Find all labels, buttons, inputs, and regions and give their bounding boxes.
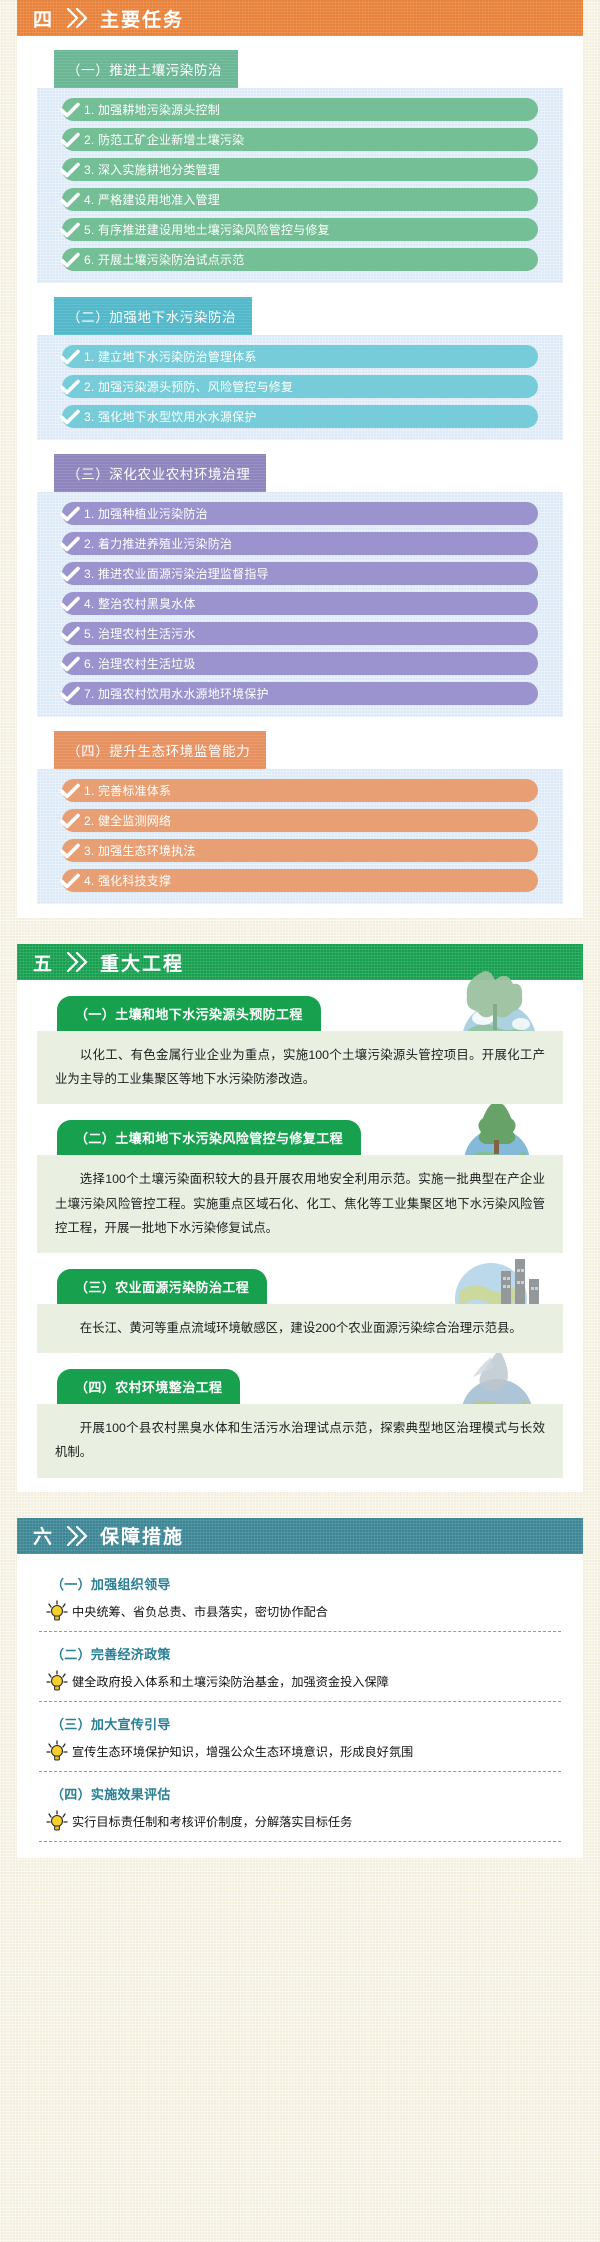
check-icon	[57, 345, 83, 368]
task-pill-label: 7. 加强农村饮用水水源地环境保护	[83, 685, 269, 702]
check-icon	[57, 158, 83, 181]
task-pill[interactable]: 1. 加强耕地污染源头控制	[62, 98, 538, 121]
safeguard-line: 宣传生态环境保护知识，增强公众生态环境意识，形成良好氛围	[39, 1737, 561, 1771]
project-block: （一）土壤和地下水污染源头预防工程 以化工、有色金属行业企业为重点，实施100个…	[37, 996, 563, 1104]
task-group-header: （二）加强地下水污染防治	[54, 297, 252, 335]
double-chevron-icon	[65, 1524, 91, 1548]
double-chevron-icon	[65, 6, 91, 30]
project-body: 选择100个土壤污染面积较大的县开展农用地安全利用示范。实施一批典型在产企业土壤…	[37, 1155, 563, 1253]
check-icon	[57, 562, 83, 585]
task-pill-label: 2. 防范工矿企业新增土壤污染	[83, 131, 244, 148]
task-pill-label: 4. 严格建设用地准入管理	[83, 191, 220, 208]
task-pill[interactable]: 3. 强化地下水型饮用水水源保护	[62, 405, 538, 428]
check-icon	[57, 248, 83, 271]
task-pill[interactable]: 2. 加强污染源头预防、风险管控与修复	[62, 375, 538, 398]
task-pill-label: 1. 加强种植业污染防治	[83, 505, 208, 522]
section-card-main-tasks: 四 主要任务 （一）推进土壤污染防治 1. 加强耕地污染源头控制 2. 防范工矿…	[17, 0, 583, 918]
section-title: 重大工程	[100, 949, 184, 976]
task-pill-label: 1. 加强耕地污染源头控制	[83, 101, 220, 118]
divider	[39, 1701, 561, 1702]
task-pill[interactable]: 3. 推进农业面源污染治理监督指导	[62, 562, 538, 585]
safeguard-text: 中央统筹、省负总责、市县落实，密切协作配合	[72, 1602, 328, 1620]
task-pill[interactable]: 7. 加强农村饮用水水源地环境保护	[62, 682, 538, 705]
task-pill-label: 5. 治理农村生活污水	[83, 625, 196, 642]
project-body: 在长江、黄河等重点流域环境敏感区，建设200个农业面源污染综合治理示范县。	[37, 1304, 563, 1353]
divider	[39, 1841, 561, 1842]
task-pill-label: 1. 完善标准体系	[83, 782, 171, 799]
divider	[39, 1771, 561, 1772]
project-header: （二）土壤和地下水污染风险管控与修复工程	[57, 1120, 361, 1155]
section-card-safeguards: 六 保障措施 （一）加强组织领导	[17, 1518, 583, 1858]
task-pill[interactable]: 2. 防范工矿企业新增土壤污染	[62, 128, 538, 151]
task-pill-label: 4. 整治农村黑臭水体	[83, 595, 196, 612]
section-number: 六	[17, 1522, 53, 1549]
task-group-header: （一）推进土壤污染防治	[54, 50, 238, 88]
section-banner-main-tasks: 四 主要任务	[17, 0, 583, 36]
check-icon	[57, 188, 83, 211]
safeguard-title: （四）实施效果评估	[39, 1778, 561, 1807]
task-pill-label: 2. 健全监测网络	[83, 812, 171, 829]
section-number: 五	[17, 949, 53, 976]
task-pill-label: 3. 深入实施耕地分类管理	[83, 161, 220, 178]
lightbulb-icon	[45, 1810, 69, 1832]
task-pill[interactable]: 1. 完善标准体系	[62, 779, 538, 802]
project-block: （二）土壤和地下水污染风险管控与修复工程 选择100个土壤污染面积较大的县开展农…	[37, 1120, 563, 1253]
task-pill[interactable]: 5. 治理农村生活污水	[62, 622, 538, 645]
task-group-header: （四）提升生态环境监管能力	[54, 731, 266, 769]
project-body: 以化工、有色金属行业企业为重点，实施100个土壤污染源头管控项目。开展化工产业为…	[37, 1031, 563, 1104]
task-group-body: 1. 加强耕地污染源头控制 2. 防范工矿企业新增土壤污染 3. 深入实施耕地分…	[37, 88, 563, 283]
task-pill[interactable]: 3. 加强生态环境执法	[62, 839, 538, 862]
infographic-page: 四 主要任务 （一）推进土壤污染防治 1. 加强耕地污染源头控制 2. 防范工矿…	[0, 0, 600, 1872]
project-block: （三）农业面源污染防治工程 在长江、黄河等重点流域环境敏感区，建设200个农业面…	[37, 1269, 563, 1353]
task-pill[interactable]: 1. 加强种植业污染防治	[62, 502, 538, 525]
check-icon	[57, 502, 83, 525]
lightbulb-icon	[45, 1670, 69, 1692]
safeguard-item: （三）加大宣传引导 宣传生态环境保护知识，增强公众生态环境意识，形成良好氛围	[39, 1704, 561, 1772]
check-icon	[57, 809, 83, 832]
check-icon	[57, 622, 83, 645]
check-icon	[57, 98, 83, 121]
safeguard-text: 健全政府投入体系和土壤污染防治基金，加强资金投入保障	[72, 1672, 389, 1690]
task-pill[interactable]: 1. 建立地下水污染防治管理体系	[62, 345, 538, 368]
safeguard-item: （四）实施效果评估 实行目标责任制和考核评价制度，分解落实目标任务	[39, 1774, 561, 1842]
task-group-groundwater: （二）加强地下水污染防治 1. 建立地下水污染防治管理体系 2. 加强污染源头预…	[17, 297, 583, 440]
task-pill-label: 6. 治理农村生活垃圾	[83, 655, 196, 672]
task-group-body: 1. 加强种植业污染防治 2. 着力推进养殖业污染防治 3. 推进农业面源污染治…	[37, 492, 563, 717]
section-banner-safeguards: 六 保障措施	[17, 1518, 583, 1554]
safeguard-item: （一）加强组织领导 中央统筹、省负总责、市县落实，密切协作配合	[39, 1564, 561, 1632]
task-pill-label: 2. 加强污染源头预防、风险管控与修复	[83, 378, 293, 395]
section-number: 四	[17, 5, 53, 32]
task-group-soil: （一）推进土壤污染防治 1. 加强耕地污染源头控制 2. 防范工矿企业新增土壤污…	[17, 50, 583, 283]
task-group-body: 1. 建立地下水污染防治管理体系 2. 加强污染源头预防、风险管控与修复 3. …	[37, 335, 563, 440]
safeguard-title: （三）加大宣传引导	[39, 1708, 561, 1737]
task-pill-label: 2. 着力推进养殖业污染防治	[83, 535, 232, 552]
task-pill-label: 4. 强化科技支撑	[83, 872, 171, 889]
safeguard-item: （二）完善经济政策 健全政府投入体系和土壤污染防治基金，加强资金投入保障	[39, 1634, 561, 1702]
safeguard-line: 实行目标责任制和考核评价制度，分解落实目标任务	[39, 1807, 561, 1841]
task-pill-label: 3. 加强生态环境执法	[83, 842, 196, 859]
task-group-body: 1. 完善标准体系 2. 健全监测网络 3. 加强生态环境执法 4. 强化科技支…	[37, 769, 563, 904]
task-pill[interactable]: 2. 着力推进养殖业污染防治	[62, 532, 538, 555]
double-chevron-icon	[65, 950, 91, 974]
project-block: （四）农村环境整治工程 开展100个县农村黑臭水体和生活污水治理试点示范，探索典…	[37, 1369, 563, 1477]
task-pill-label: 5. 有序推进建设用地土壤污染风险管控与修复	[83, 221, 330, 238]
task-pill-label: 1. 建立地下水污染防治管理体系	[83, 348, 257, 365]
task-group-supervision: （四）提升生态环境监管能力 1. 完善标准体系 2. 健全监测网络 3. 加强生…	[17, 731, 583, 904]
section-banner-major-projects: 五 重大工程	[17, 944, 583, 980]
task-pill[interactable]: 5. 有序推进建设用地土壤污染风险管控与修复	[62, 218, 538, 241]
lightbulb-icon	[45, 1600, 69, 1622]
task-pill[interactable]: 4. 强化科技支撑	[62, 869, 538, 892]
safeguard-text: 实行目标责任制和考核评价制度，分解落实目标任务	[72, 1812, 352, 1830]
task-pill[interactable]: 3. 深入实施耕地分类管理	[62, 158, 538, 181]
task-group-header: （三）深化农业农村环境治理	[54, 454, 266, 492]
check-icon	[57, 405, 83, 428]
task-pill[interactable]: 4. 整治农村黑臭水体	[62, 592, 538, 615]
task-pill-label: 6. 开展土壤污染防治试点示范	[83, 251, 244, 268]
task-pill[interactable]: 4. 严格建设用地准入管理	[62, 188, 538, 211]
check-icon	[57, 128, 83, 151]
section-title: 主要任务	[100, 5, 184, 32]
check-icon	[57, 218, 83, 241]
check-icon	[57, 375, 83, 398]
project-header: （三）农业面源污染防治工程	[57, 1269, 267, 1304]
safeguard-list: （一）加强组织领导 中央统筹、省负总责、市县落实，密切协作配合	[17, 1554, 583, 1842]
task-pill[interactable]: 2. 健全监测网络	[62, 809, 538, 832]
divider	[39, 1631, 561, 1632]
project-header: （一）土壤和地下水污染源头预防工程	[57, 996, 321, 1031]
project-body: 开展100个县农村黑臭水体和生活污水治理试点示范，探索典型地区治理模式与长效机制…	[37, 1404, 563, 1477]
check-icon	[57, 532, 83, 555]
safeguard-title: （二）完善经济政策	[39, 1638, 561, 1667]
safeguard-line: 健全政府投入体系和土壤污染防治基金，加强资金投入保障	[39, 1667, 561, 1701]
section-title: 保障措施	[100, 1522, 184, 1549]
check-icon	[57, 779, 83, 802]
lightbulb-icon	[45, 1740, 69, 1762]
check-icon	[57, 592, 83, 615]
task-pill[interactable]: 6. 治理农村生活垃圾	[62, 652, 538, 675]
check-icon	[57, 869, 83, 892]
section-card-major-projects: 五 重大工程 （一）土壤和地	[17, 944, 583, 1492]
check-icon	[57, 652, 83, 675]
task-pill-label: 3. 推进农业面源污染治理监督指导	[83, 565, 269, 582]
safeguard-line: 中央统筹、省负总责、市县落实，密切协作配合	[39, 1597, 561, 1631]
project-header: （四）农村环境整治工程	[57, 1369, 240, 1404]
task-group-rural: （三）深化农业农村环境治理 1. 加强种植业污染防治 2. 着力推进养殖业污染防…	[17, 454, 583, 717]
safeguard-text: 宣传生态环境保护知识，增强公众生态环境意识，形成良好氛围	[72, 1742, 413, 1760]
check-icon	[57, 682, 83, 705]
task-pill[interactable]: 6. 开展土壤污染防治试点示范	[62, 248, 538, 271]
safeguard-title: （一）加强组织领导	[39, 1568, 561, 1597]
task-pill-label: 3. 强化地下水型饮用水水源保护	[83, 408, 257, 425]
check-icon	[57, 839, 83, 862]
